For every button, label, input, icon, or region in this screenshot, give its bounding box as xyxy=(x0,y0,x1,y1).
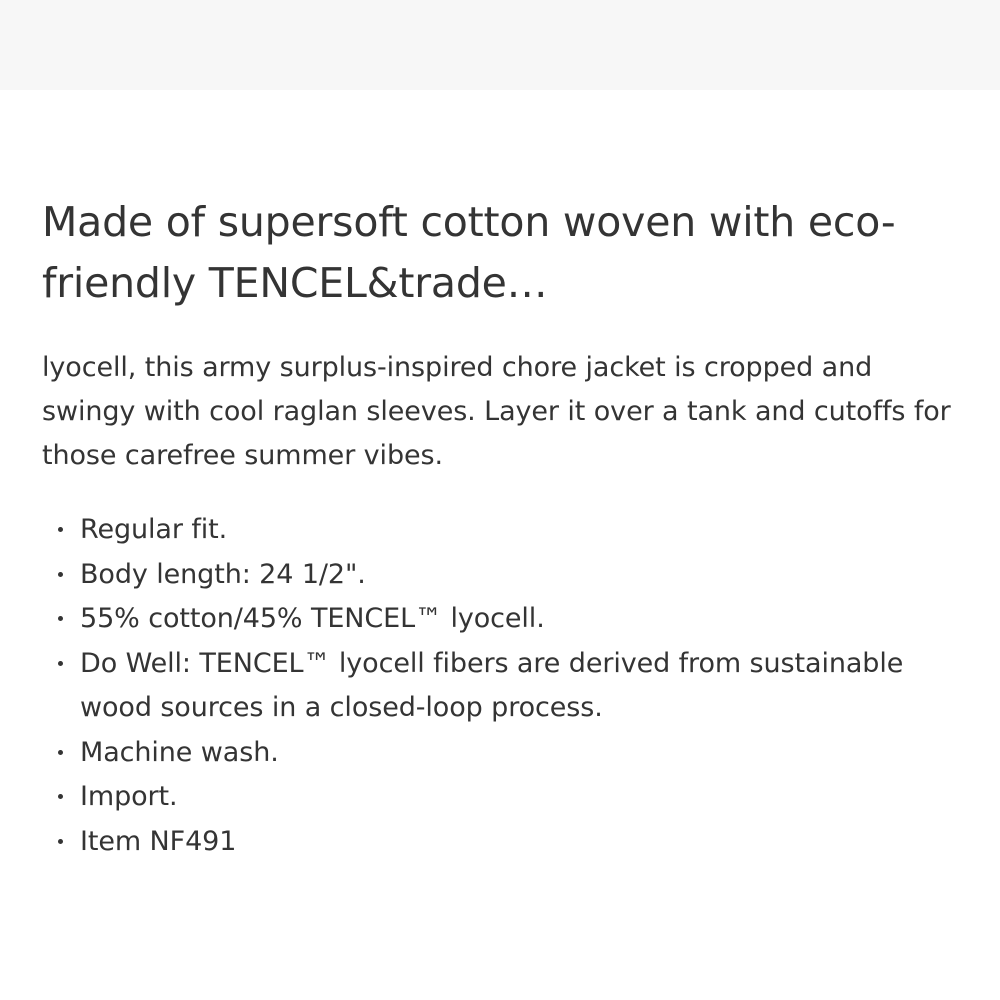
list-item: Regular fit. xyxy=(42,508,958,553)
list-item: Machine wash. xyxy=(42,731,958,776)
bullet-dot-icon xyxy=(58,616,63,621)
list-item: Body length: 24 1/2". xyxy=(42,553,958,598)
product-spec-list: Regular fit. Body length: 24 1/2". 55% c… xyxy=(42,478,958,864)
list-item: Item NF491 xyxy=(42,820,958,865)
list-item-label: Machine wash. xyxy=(80,737,279,768)
list-item-label: Import. xyxy=(80,781,178,812)
bullet-dot-icon xyxy=(58,839,63,844)
product-heading: Made of supersoft cotton woven with eco-… xyxy=(42,90,942,314)
bullet-dot-icon xyxy=(58,527,63,532)
list-item-label: Item NF491 xyxy=(80,826,236,857)
product-description: lyocell, this army surplus-inspired chor… xyxy=(42,314,958,478)
bullet-dot-icon xyxy=(58,794,63,799)
list-item: Import. xyxy=(42,775,958,820)
list-item: Do Well: TENCEL™ lyocell fibers are deri… xyxy=(42,642,958,731)
bullet-dot-icon xyxy=(58,750,63,755)
list-item-label: Body length: 24 1/2". xyxy=(80,559,366,590)
list-item-label: 55% cotton/45% TENCEL™ lyocell. xyxy=(80,603,545,634)
top-band xyxy=(0,0,1000,90)
product-details-content: Made of supersoft cotton woven with eco-… xyxy=(0,90,1000,864)
product-details-page: Made of supersoft cotton woven with eco-… xyxy=(0,0,1000,1000)
list-item-label: Regular fit. xyxy=(80,514,227,545)
list-item: 55% cotton/45% TENCEL™ lyocell. xyxy=(42,597,958,642)
bullet-dot-icon xyxy=(58,572,63,577)
bullet-dot-icon xyxy=(58,661,63,666)
list-item-label: Do Well: TENCEL™ lyocell fibers are deri… xyxy=(80,648,903,724)
